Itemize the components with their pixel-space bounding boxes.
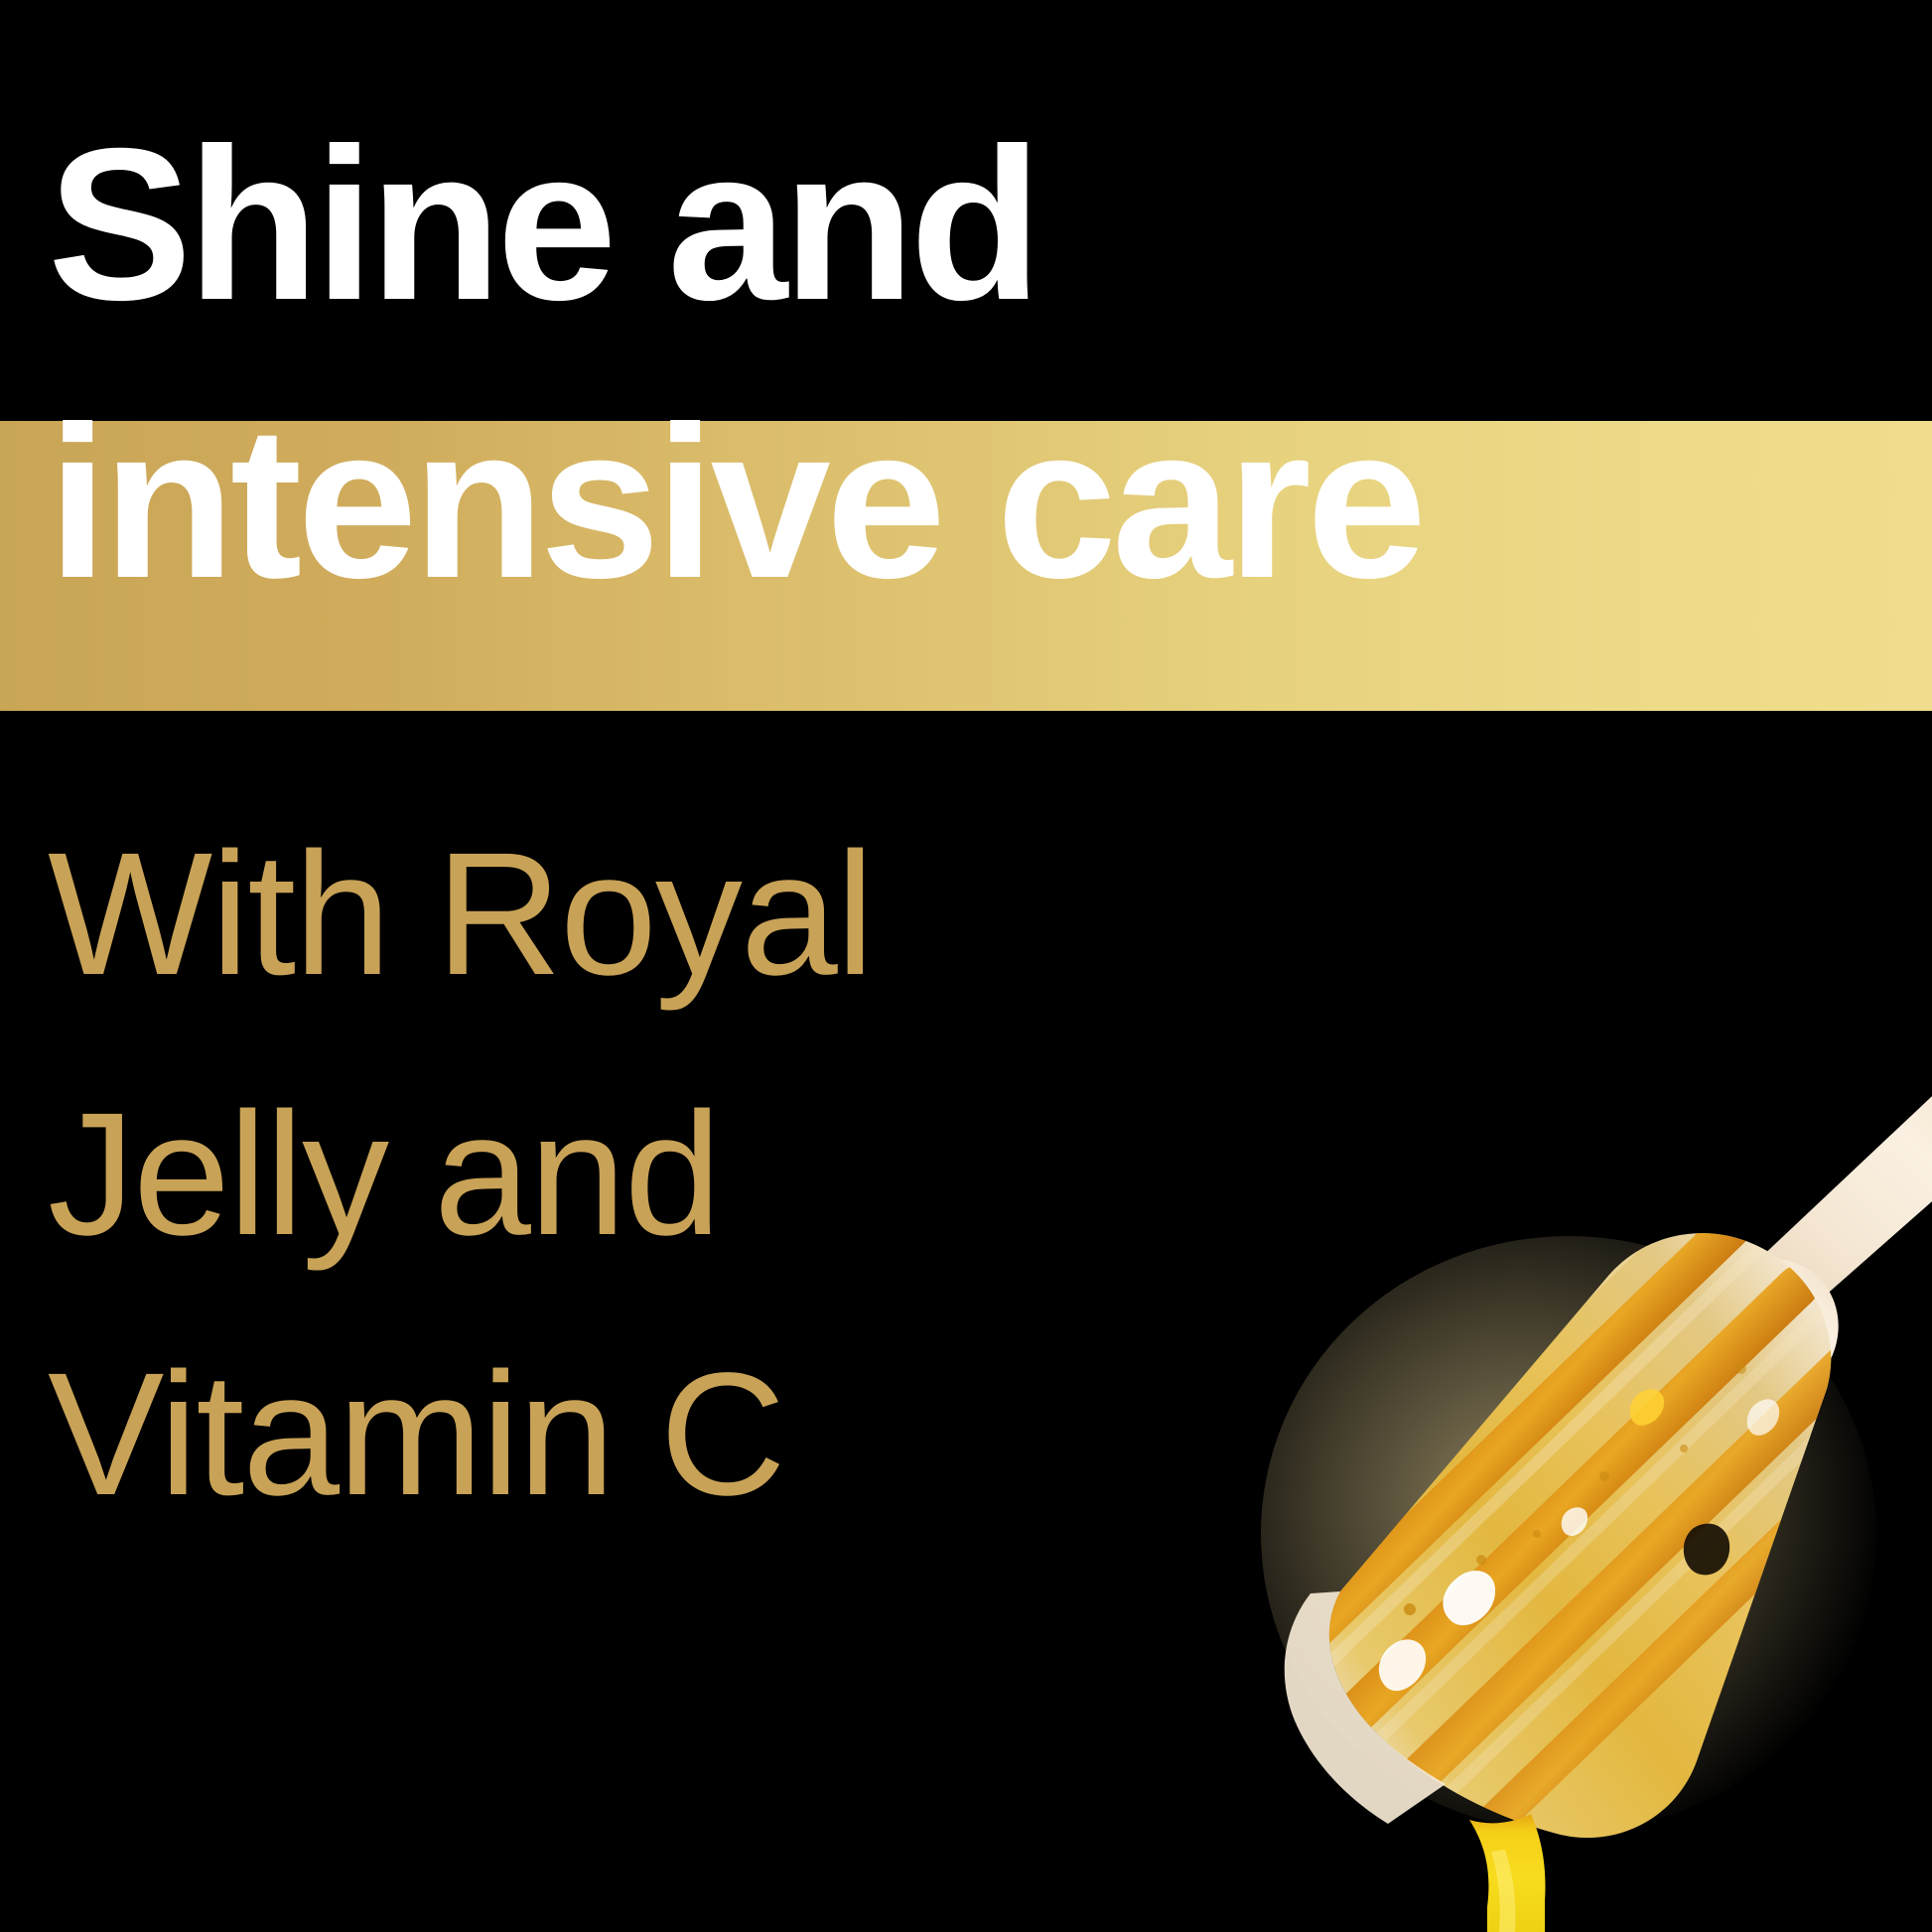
headline-line-2: intensive care — [48, 395, 1835, 612]
subhead-block: With Royal Jelly and Vitamin C — [48, 784, 1189, 1565]
honey-drip — [1469, 1814, 1545, 1932]
headline-line-1: Shine and — [48, 117, 1537, 334]
subhead-line-2: Jelly and — [48, 1044, 1189, 1305]
subhead-line-3: Vitamin C — [48, 1305, 1189, 1565]
honey-dipper-graphic — [1142, 978, 1932, 1932]
poster-canvas: Shine and intensive care With Royal Jell… — [0, 0, 1932, 1932]
dipper-body — [1181, 1136, 1932, 1892]
dipper-glow — [1261, 1236, 1876, 1832]
dipper-handle — [1741, 1081, 1932, 1327]
dipper-neck — [1685, 1259, 1839, 1405]
dipper-grooves — [1181, 1136, 1932, 1892]
honey-dipper-image — [1142, 978, 1932, 1932]
honey-drip-highlight — [1491, 1850, 1516, 1932]
subhead-line-1: With Royal — [48, 784, 1189, 1044]
